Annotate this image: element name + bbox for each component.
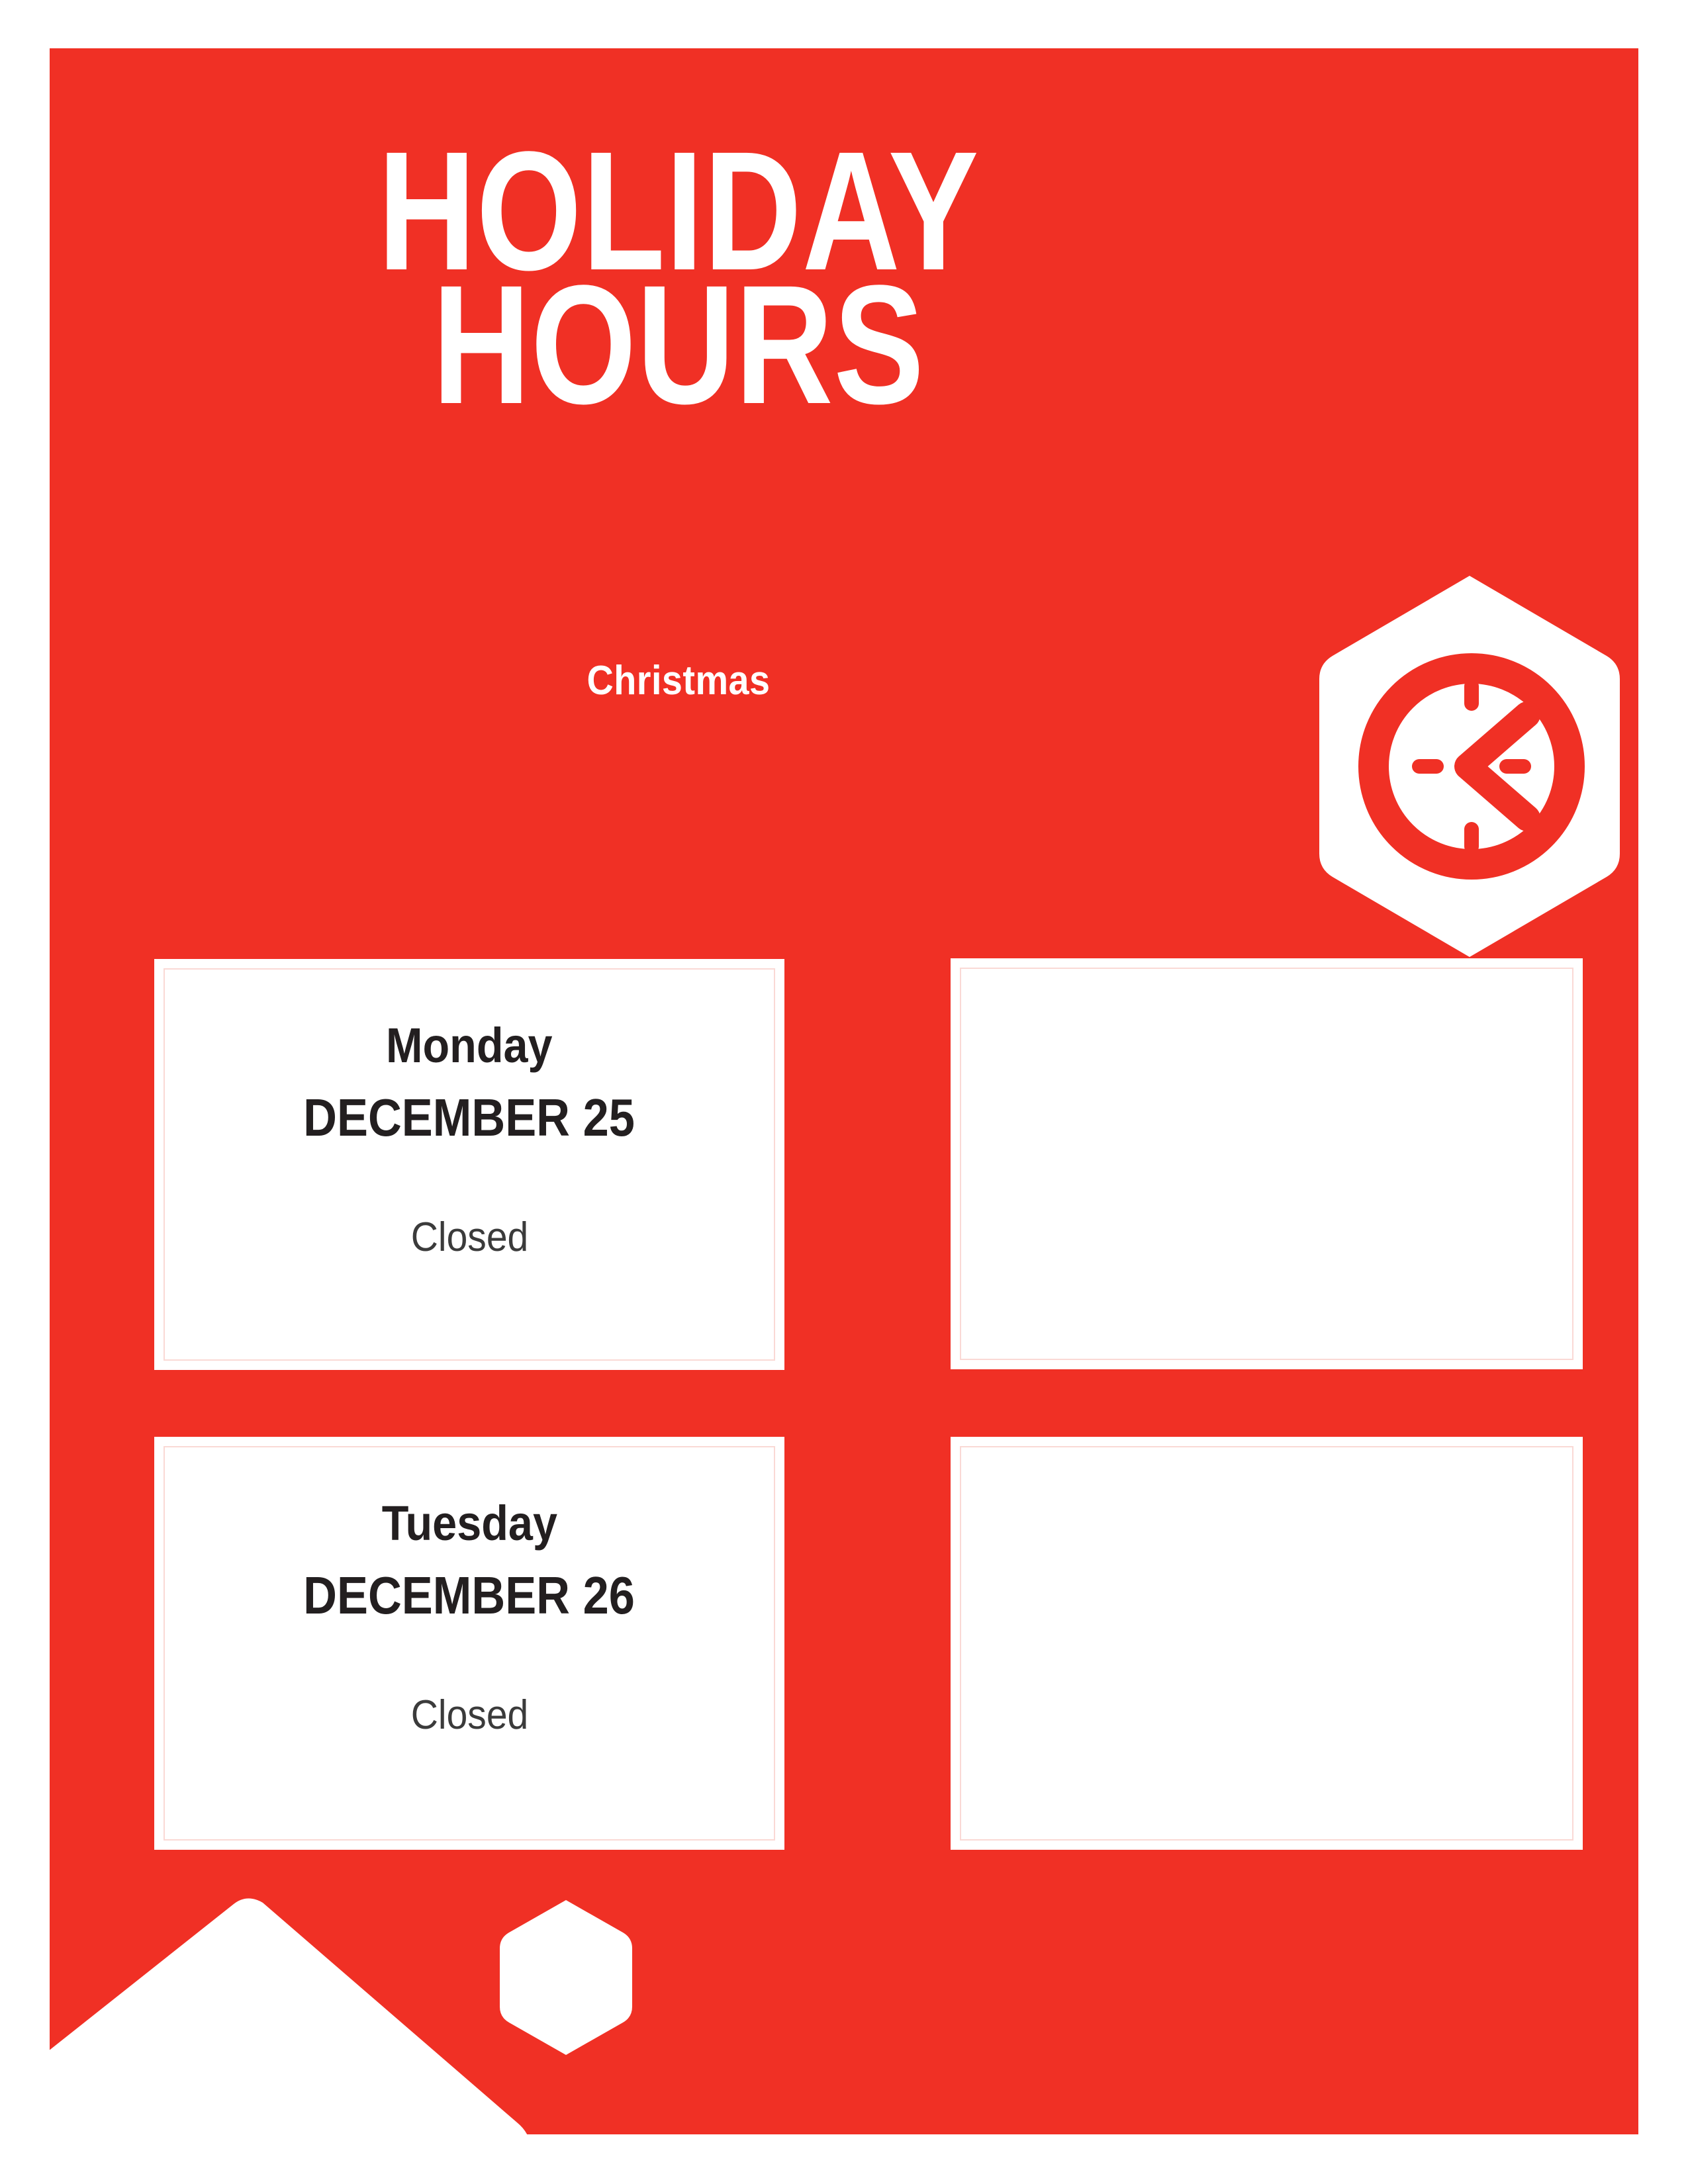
day-date: DECEMBER 26 — [304, 1569, 635, 1622]
page-title: HOLIDAY HOURS — [50, 144, 1307, 412]
day-name: Tuesday — [381, 1499, 557, 1548]
card-inner: Monday DECEMBER 25 Closed — [164, 968, 775, 1361]
small-hexagon-decoration — [493, 1895, 639, 2060]
large-hexagon-decoration — [50, 1863, 553, 2134]
day-date: DECEMBER 25 — [304, 1091, 635, 1144]
title-line-hours: HOURS — [175, 278, 1182, 412]
day-hours: Closed — [410, 1217, 528, 1258]
day-name: Monday — [386, 1021, 553, 1070]
poster-subtitle: Christmas — [113, 657, 1244, 704]
title-line-holiday: HOLIDAY — [175, 144, 1182, 278]
hours-card-tuesday[interactable]: Tuesday DECEMBER 26 Closed — [154, 1437, 784, 1850]
poster-panel: HOLIDAY HOURS Christmas Monday DECEMBER … — [50, 48, 1638, 2134]
card-inner: Tuesday DECEMBER 26 Closed — [164, 1446, 775, 1841]
hours-card-monday[interactable]: Monday DECEMBER 25 Closed — [154, 959, 784, 1370]
clock-icon — [1294, 561, 1638, 972]
card-inner — [960, 968, 1573, 1360]
hours-card-tuesday-secondary[interactable] — [951, 1437, 1583, 1850]
hexagon-shape-icon — [50, 1863, 553, 2134]
day-hours: Closed — [410, 1695, 528, 1736]
hexagon-shape-icon — [493, 1895, 639, 2060]
card-inner — [960, 1446, 1573, 1841]
clock-badge — [1294, 561, 1638, 972]
hours-card-monday-secondary[interactable] — [951, 958, 1583, 1369]
